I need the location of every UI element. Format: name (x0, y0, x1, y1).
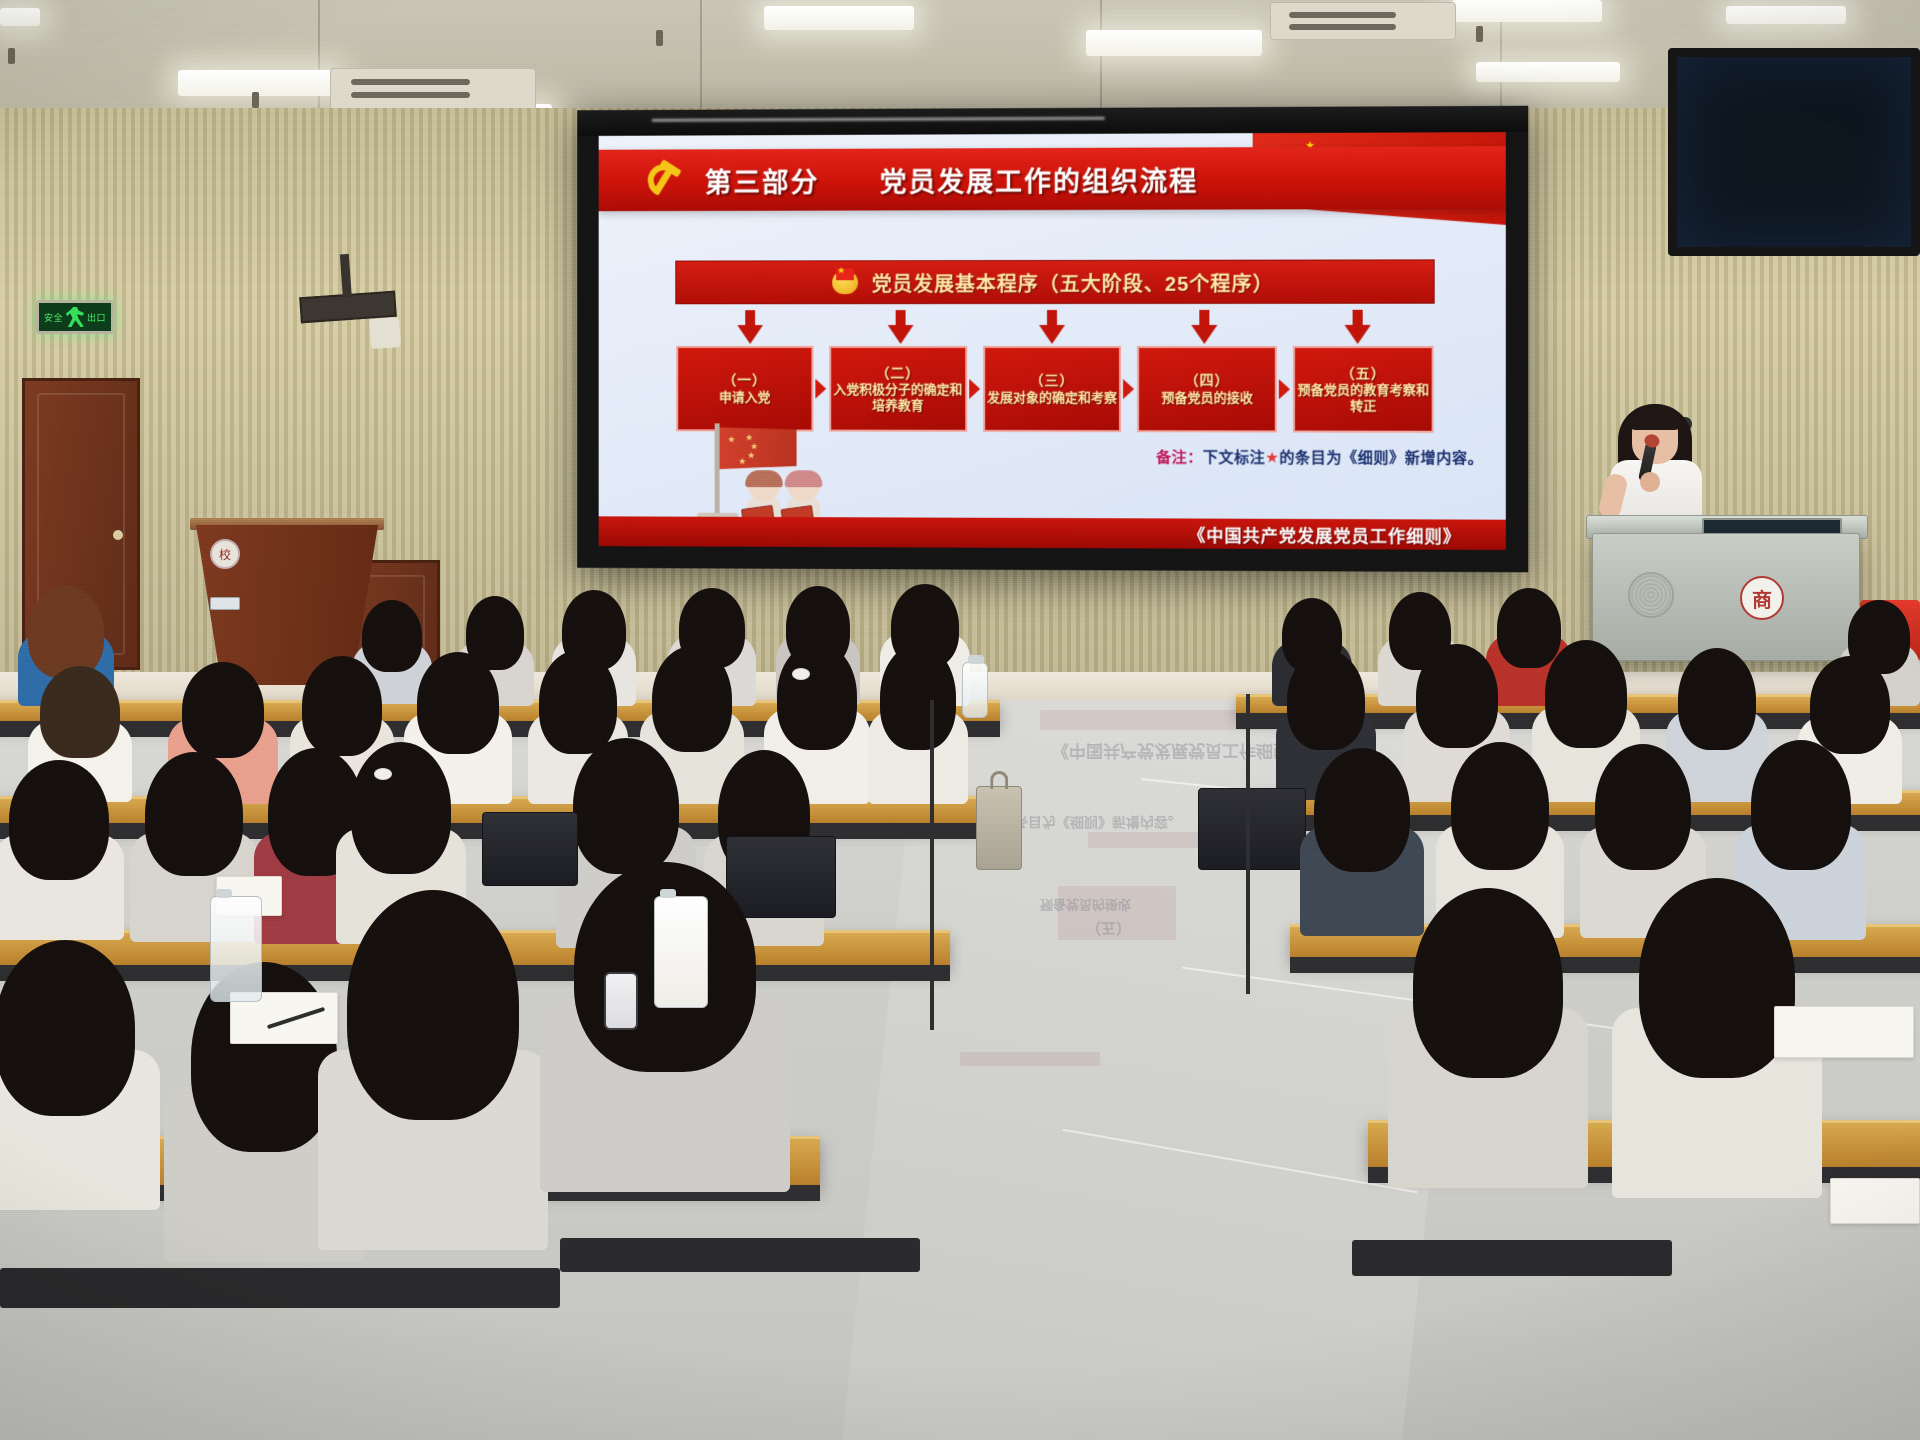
down-arrow-icon (1191, 310, 1217, 344)
floor-reflection-step-box (1058, 886, 1176, 940)
podium-label-tag (210, 597, 240, 610)
flow-step-2-label: 入党积极分子的确定和培养教育 (833, 382, 963, 413)
presenter-fringe (1629, 406, 1681, 430)
exit-sign: 安全 出口 (36, 300, 114, 334)
down-arrow-icon (1344, 310, 1370, 344)
student (0, 760, 124, 940)
smartphone[interactable] (604, 972, 638, 1030)
slide-note-text-after: 的条目为《细则》新增内容。 (1279, 450, 1483, 468)
presenter-hand (1640, 472, 1660, 492)
tote-bag (976, 786, 1022, 870)
slide-footer-bar: 《中国共产党发展党员工作细则》 (599, 516, 1506, 550)
slide-note-text-before: 下文标注 (1203, 449, 1265, 466)
slide-title-banner: 第三部分 党员发展工作的组织流程 (599, 146, 1506, 211)
cartoon-china-flag-icon: ★★★★★ (720, 427, 797, 469)
slide-subtitle: 党员发展基本程序（五大阶段、25个程序） (872, 267, 1274, 296)
slide-note-label: 备注： (1156, 449, 1203, 466)
slide-subtitle-bar: 党员发展基本程序（五大阶段、25个程序） (675, 259, 1434, 304)
seat-back (560, 1238, 920, 1272)
ceiling-light (764, 6, 914, 30)
down-arrow-icon (737, 310, 763, 344)
slide-title-main: 党员发展工作的组织流程 (880, 166, 1199, 197)
slide-title-part: 第三部分 (705, 167, 820, 197)
floor-reflection-footer (960, 1052, 1100, 1066)
seat-back (1352, 1240, 1672, 1276)
student (1388, 888, 1588, 1188)
lecture-hall-scene: 安全 出口 ★★ ★★★ 第三部分 党 (0, 0, 1920, 1440)
flow-step-4-label: 预备党员的接收 (1161, 390, 1253, 406)
exit-sign-label-right: 出口 (87, 311, 106, 324)
student (868, 644, 968, 804)
party-badge-icon (832, 270, 858, 294)
party-hammer-sickle-icon (644, 160, 683, 200)
screen-top-trim (577, 106, 1528, 136)
slide-title: 第三部分 党员发展工作的组织流程 (705, 159, 1199, 200)
down-arrow-icon (888, 310, 914, 344)
desk-divider (1246, 694, 1250, 994)
ceiling (0, 0, 1920, 118)
flow-step-3-number: （三） (1030, 372, 1075, 390)
flow-arrow-icon (1278, 346, 1292, 432)
ceiling-light (1726, 6, 1846, 24)
ceiling-light (1452, 0, 1602, 22)
flow-arrow-icon (1122, 346, 1136, 432)
ceiling-light (1086, 30, 1262, 56)
notebook-page (1830, 1178, 1920, 1224)
flow-step-2: （二） 入党积极分子的确定和培养教育 (829, 346, 967, 432)
flow-step-4: （四） 预备党员的接收 (1137, 346, 1277, 432)
projector (369, 317, 401, 349)
water-bottle (654, 896, 708, 1008)
sprinkler-head (1476, 26, 1483, 42)
flow-step-1-label: 申请入党 (719, 390, 770, 406)
floor-reflection-arrow (1104, 962, 1124, 990)
ceiling-light (1476, 62, 1620, 82)
sprinkler-head (656, 30, 663, 46)
notebook-page (1774, 1006, 1914, 1058)
flow-step-5: （五） 预备党员的教育考察和转正 (1293, 346, 1433, 433)
flow-arrow-icon (968, 346, 982, 432)
projection-screen[interactable]: ★★ ★★★ 第三部分 党员发展工作的组织流程 党员发展基本程序（五大阶段、25… (577, 106, 1528, 573)
slide-content: ★★ ★★★ 第三部分 党员发展工作的组织流程 党员发展基本程序（五大阶段、25… (599, 132, 1506, 550)
exit-sign-label-left: 安全 (44, 311, 63, 324)
lectern-speaker-grille (1628, 572, 1674, 618)
sprinkler-head (252, 92, 259, 108)
down-arrow-row (675, 310, 1434, 346)
seat-back (0, 1268, 560, 1308)
slide-note: 备注：下文标注★的条目为《细则》新增内容。 (1156, 446, 1483, 468)
flow-step-2-number: （二） (875, 365, 920, 382)
flow-step-4-number: （四） (1185, 373, 1230, 391)
water-bottle (210, 896, 262, 1002)
student (318, 890, 548, 1250)
side-monitor[interactable] (1668, 48, 1920, 256)
running-person-icon (66, 307, 84, 327)
backpack (1198, 788, 1306, 870)
down-arrow-icon (1039, 310, 1065, 344)
sprinkler-head (8, 48, 15, 64)
podium-seal-icon: 校 (210, 539, 240, 569)
student (0, 940, 160, 1210)
slide-footer-text: 《中国共产党发展党员工作细则》 (1188, 521, 1461, 547)
school-emblem-icon: 商 (1740, 576, 1784, 620)
ceiling-light (0, 8, 40, 26)
flow-step-5-number: （五） (1341, 365, 1387, 383)
flow-step-3-label: 发展对象的确定和考察 (987, 390, 1117, 406)
flow-step-1-number: （一） (722, 372, 766, 389)
air-conditioner-vent (1270, 2, 1456, 40)
star-icon: ★ (1265, 449, 1279, 466)
desk-divider (930, 700, 934, 1030)
flow-step-3: （三） 发展对象的确定和考察 (983, 346, 1122, 432)
flow-step-5-label: 预备党员的教育考察和转正 (1297, 382, 1429, 414)
air-conditioner-vent (330, 68, 536, 110)
